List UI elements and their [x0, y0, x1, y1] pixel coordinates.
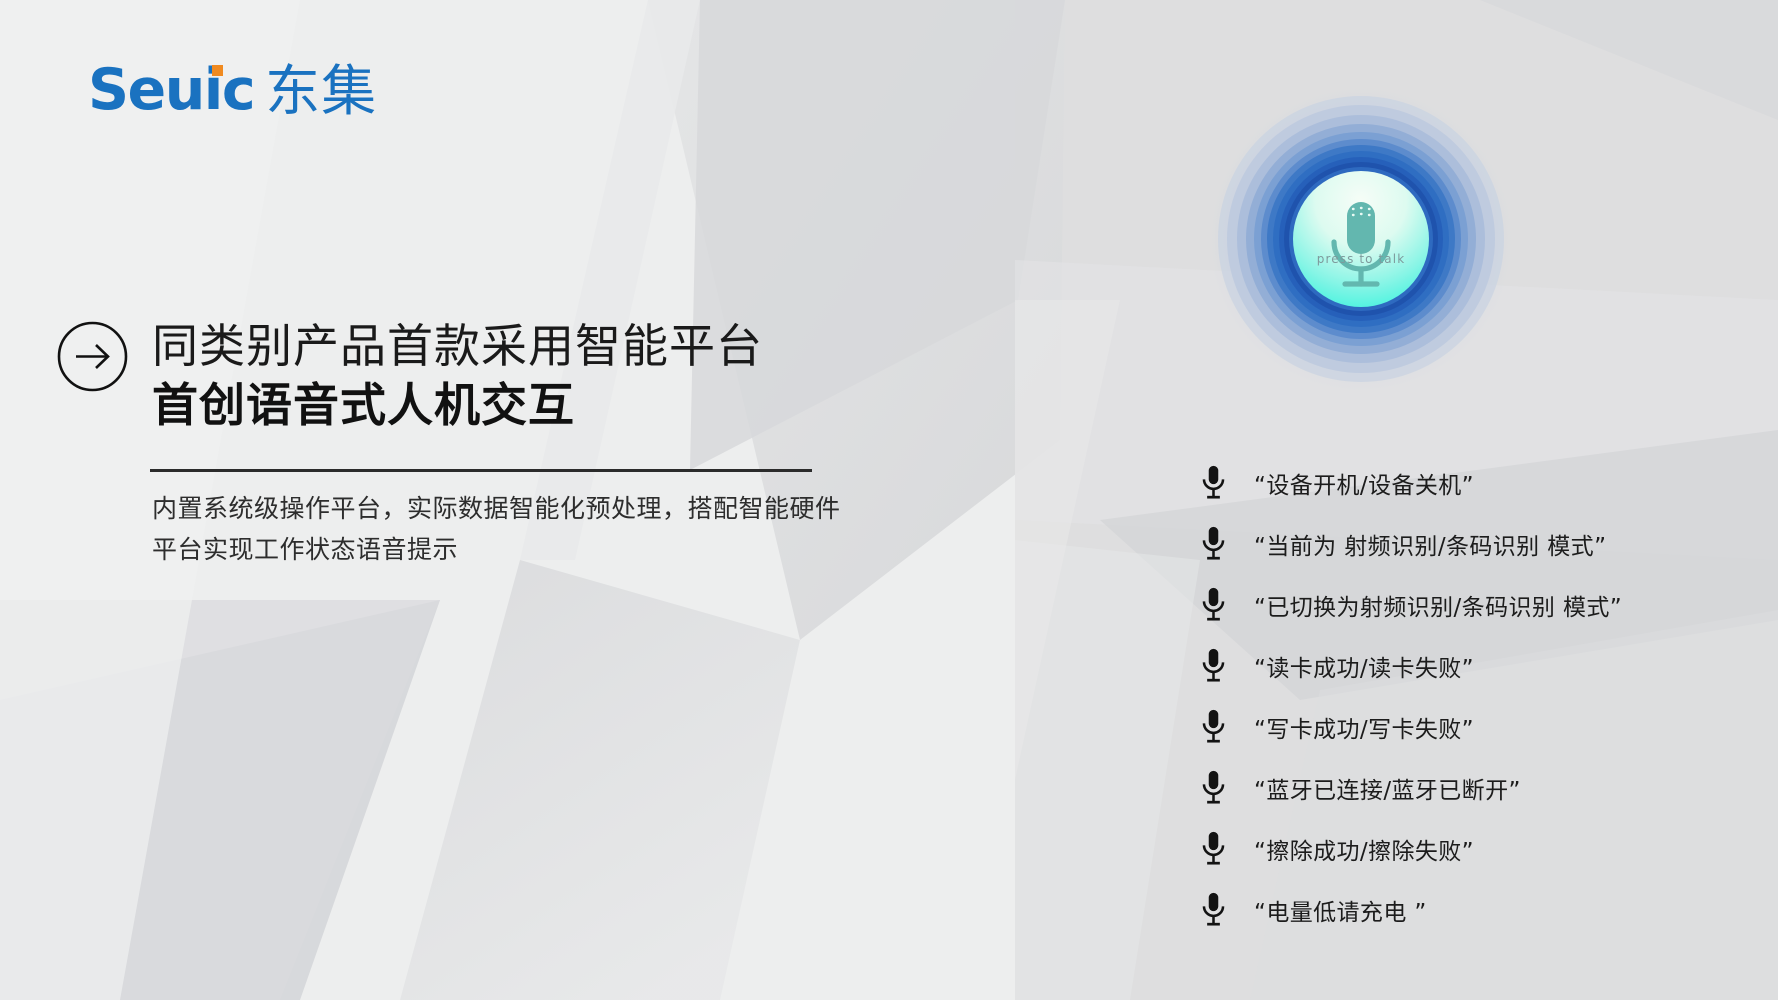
- microphone-icon: [1186, 769, 1240, 806]
- arrow-right-circle-icon: [57, 321, 128, 392]
- microphone-icon: [1186, 464, 1240, 501]
- slide-canvas: Seuic 东集 同类别产品首款采用智能平台 首创语音式人机交互 内置系统级操作…: [0, 0, 1778, 1000]
- brand-logo: Seuic 东集: [88, 62, 377, 119]
- microphone-icon: [1186, 647, 1240, 684]
- headline-line-1: 同类别产品首款采用智能平台: [152, 320, 872, 373]
- prompt-text: “蓝牙已连接/蓝牙已断开”: [1254, 771, 1521, 805]
- logo-latin-wordmark: Seuic: [88, 62, 254, 119]
- prompt-text: “擦除成功/擦除失败”: [1254, 832, 1474, 866]
- prompt-text: “已切换为射频识别/条码识别 模式”: [1254, 588, 1622, 622]
- microphone-icon: [1186, 830, 1240, 867]
- list-item: “已切换为射频识别/条码识别 模式”: [1186, 574, 1746, 635]
- list-item: “电量低请充电 ”: [1186, 879, 1746, 940]
- headline-divider: [150, 469, 812, 472]
- body-line-2: 平台实现工作状态语音提示: [152, 529, 832, 570]
- microphone-icon: [1186, 586, 1240, 623]
- headline-block: 同类别产品首款采用智能平台 首创语音式人机交互: [152, 320, 872, 433]
- microphone-icon: [1186, 708, 1240, 745]
- microphone-icon: [1186, 525, 1240, 562]
- list-item: “擦除成功/擦除失败”: [1186, 818, 1746, 879]
- list-item: “蓝牙已连接/蓝牙已断开”: [1186, 757, 1746, 818]
- logo-orange-dot: [212, 65, 223, 76]
- headline-line-2: 首创语音式人机交互: [152, 377, 872, 433]
- logo-cjk-text: 东集: [265, 64, 377, 119]
- logo-latin-text: Seuic: [88, 57, 254, 123]
- voice-prompt-list: “设备开机/设备关机” “当前为 射频识别/条码识别 模式”: [1186, 452, 1746, 940]
- press-to-talk-button[interactable]: press to talk: [1206, 84, 1516, 394]
- list-item: “写卡成功/写卡失败”: [1186, 696, 1746, 757]
- list-item: “设备开机/设备关机”: [1186, 452, 1746, 513]
- prompt-text: “电量低请充电 ”: [1254, 893, 1427, 927]
- prompt-text: “写卡成功/写卡失败”: [1254, 710, 1474, 744]
- list-item: “读卡成功/读卡失败”: [1186, 635, 1746, 696]
- body-line-1: 内置系统级操作平台，实际数据智能化预处理，搭配智能硬件: [152, 488, 832, 529]
- prompt-text: “读卡成功/读卡失败”: [1254, 649, 1474, 683]
- list-item: “当前为 射频识别/条码识别 模式”: [1186, 513, 1746, 574]
- body-paragraph: 内置系统级操作平台，实际数据智能化预处理，搭配智能硬件 平台实现工作状态语音提示: [152, 488, 832, 571]
- prompt-text: “当前为 射频识别/条码识别 模式”: [1254, 527, 1606, 561]
- microphone-icon: [1186, 891, 1240, 928]
- prompt-text: “设备开机/设备关机”: [1254, 466, 1474, 500]
- press-to-talk-rings: [1206, 84, 1516, 394]
